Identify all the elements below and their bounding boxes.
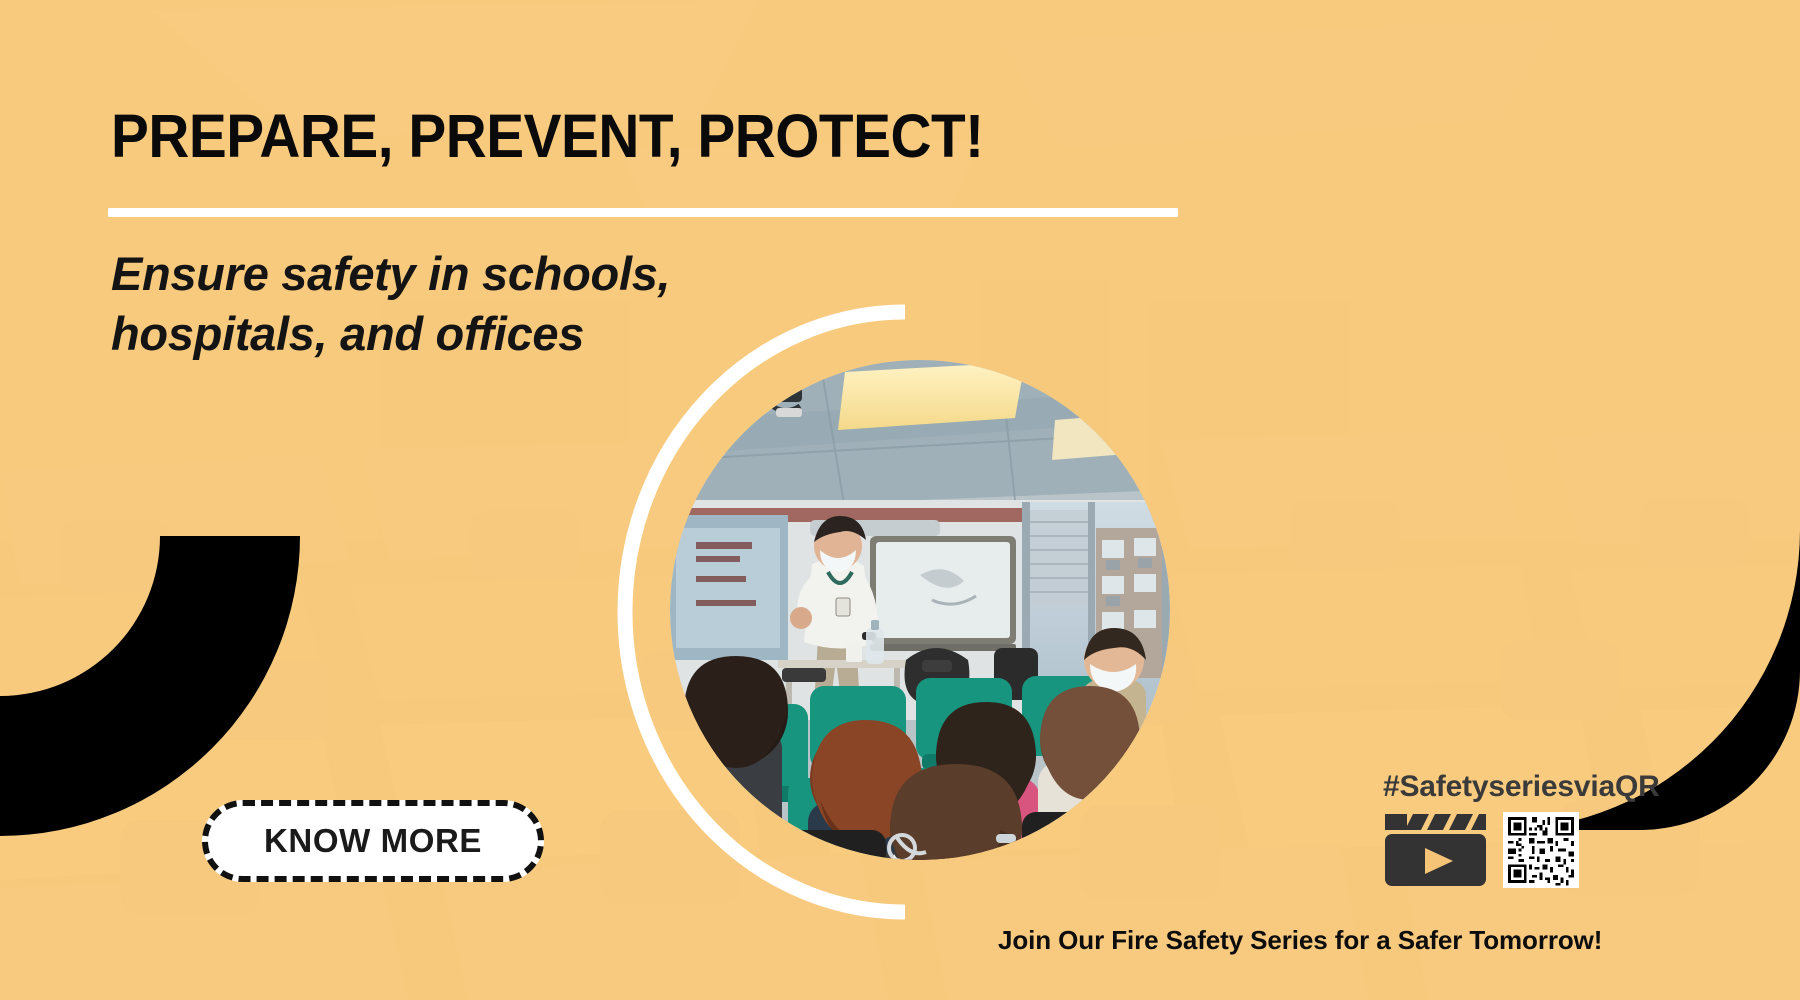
title-divider	[108, 208, 1178, 217]
tagline: Join Our Fire Safety Series for a Safer …	[998, 925, 1602, 956]
know-more-button[interactable]: KNOW MORE	[202, 800, 544, 882]
hashtag-label: #SafetyseriesviaQR	[1383, 770, 1660, 804]
clapperboard-icon[interactable]	[1383, 812, 1488, 888]
promo-banner: PREPARE, PREVENT, PROTECT! Ensure safety…	[0, 0, 1800, 1000]
fire-safety-training-session-photo	[670, 360, 1170, 860]
subtitle: Ensure safety in schools, hospitals, and…	[111, 244, 670, 363]
photo-cluster	[590, 290, 1110, 930]
know-more-label: KNOW MORE	[264, 822, 482, 860]
qr-code-icon[interactable]	[1503, 812, 1579, 888]
media-row	[1383, 812, 1579, 888]
page-title: PREPARE, PREVENT, PROTECT!	[111, 106, 984, 167]
